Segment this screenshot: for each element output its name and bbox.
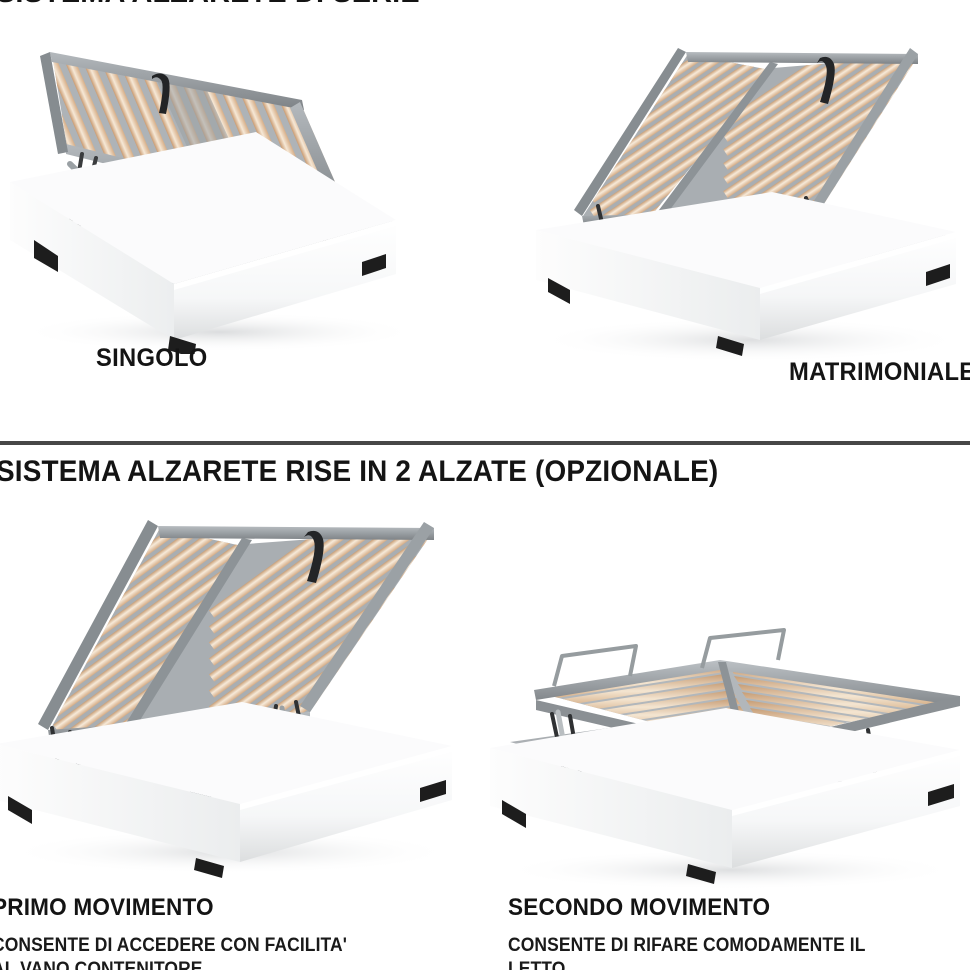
section-divider: [0, 441, 970, 445]
bed-description-primo-movimento: CONSENTE DI ACCEDERE CON FACILITA' AL VA…: [0, 934, 347, 970]
description-line-2: LETTO: [508, 958, 866, 970]
bed-matrimoniale-illustration: [520, 40, 970, 370]
product-sheet-page: SISTEMA ALZARETE DI SERIE: [0, 0, 970, 970]
section-title-rise: SISTEMA ALZARETE RISE IN 2 ALZATE (OPZIO…: [0, 455, 718, 489]
bed-secondo-movimento-illustration: [480, 620, 970, 890]
bed-label-primo-movimento: PRIMO MOVIMENTO: [0, 894, 214, 922]
description-line-2: AL VANO CONTENITORE: [0, 958, 347, 970]
bed-label-singolo: SINGOLO: [96, 344, 208, 373]
description-line-1: CONSENTE DI ACCEDERE CON FACILITA': [0, 934, 347, 958]
bed-primo-movimento-illustration: [0, 500, 460, 880]
bed-label-secondo-movimento: SECONDO MOVIMENTO: [508, 894, 770, 922]
bed-singolo-illustration: [4, 44, 444, 354]
bed-label-matrimoniale: MATRIMONIALE: [789, 358, 970, 387]
description-line-1: CONSENTE DI RIFARE COMODAMENTE IL: [508, 934, 866, 958]
bed-description-secondo-movimento: CONSENTE DI RIFARE COMODAMENTE IL LETTO: [508, 934, 866, 970]
section-title-serie: SISTEMA ALZARETE DI SERIE: [0, 0, 420, 10]
